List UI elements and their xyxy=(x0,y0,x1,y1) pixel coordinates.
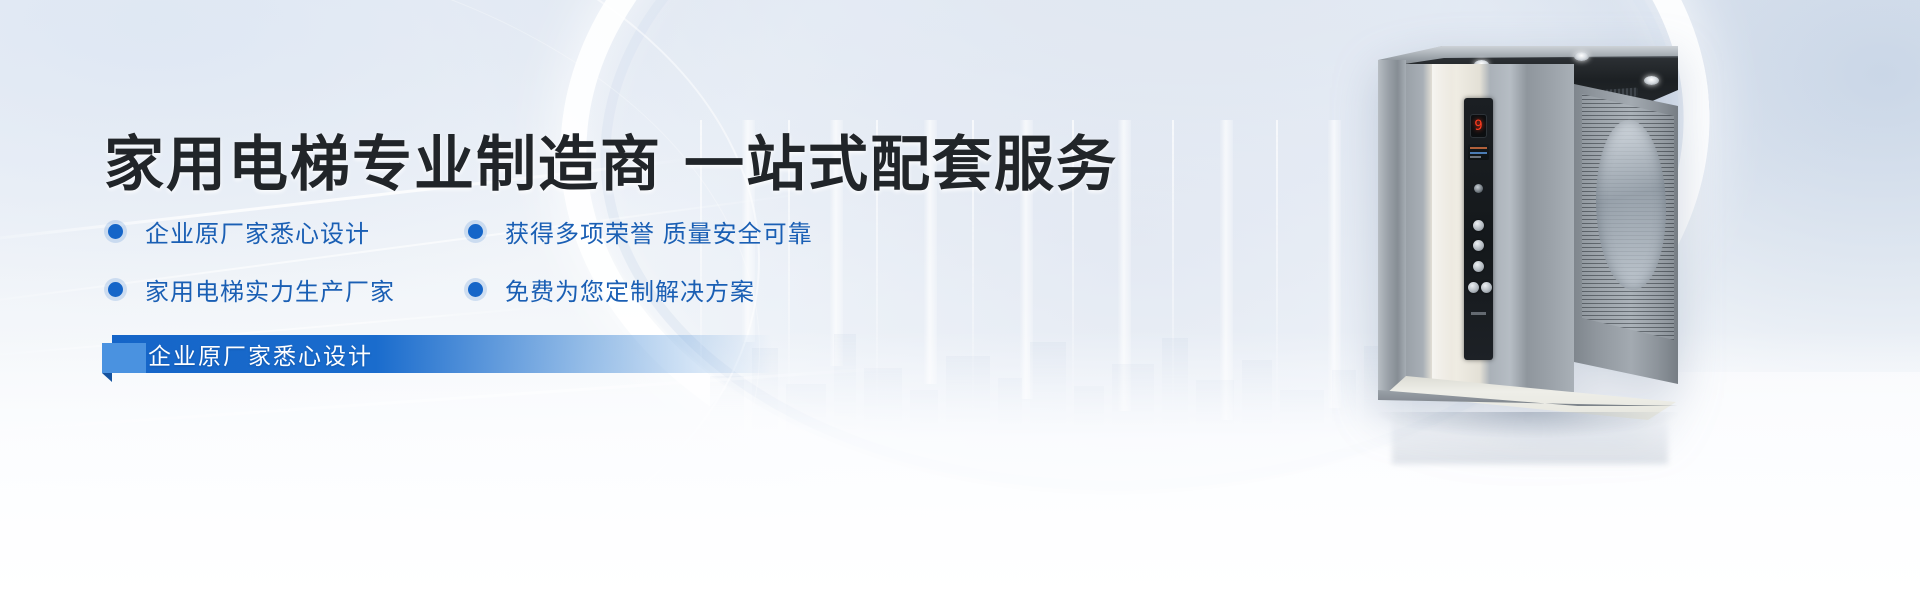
banner-content: 家用电梯专业制造商一站式配套服务 企业原厂家悉心设计 获得多项荣誉 质量安全可靠… xyxy=(0,0,1150,600)
list-item: 企业原厂家悉心设计 xyxy=(108,214,468,249)
headline-part-1: 家用电梯专业制造商 xyxy=(104,131,662,198)
cabin-left-jamb xyxy=(1378,60,1406,392)
headline-part-2: 一站式配套服务 xyxy=(684,131,1118,198)
page-title: 家用电梯专业制造商一站式配套服务 xyxy=(104,116,1118,203)
list-item-label: 获得多项荣誉 质量安全可靠 xyxy=(505,214,813,249)
hero-banner: 家用电梯专业制造商一站式配套服务 企业原厂家悉心设计 获得多项荣誉 质量安全可靠… xyxy=(0,0,1920,600)
panel-logo xyxy=(1471,312,1486,315)
floor-indicator-display: 9 xyxy=(1470,114,1487,138)
ribbon-fold-icon xyxy=(102,343,146,373)
list-item-label: 企业原厂家悉心设计 xyxy=(145,214,370,249)
control-panel[interactable]: 9 xyxy=(1464,98,1493,360)
elevator-cabin-image: 9 xyxy=(1378,46,1678,406)
list-item-label: 家用电梯实力生产厂家 xyxy=(145,272,395,307)
floor-button[interactable] xyxy=(1473,261,1484,272)
bullet-dot-icon xyxy=(108,224,123,239)
list-item-label: 免费为您定制解决方案 xyxy=(505,272,755,307)
list-item: 获得多项荣誉 质量安全可靠 xyxy=(468,214,828,249)
door-close-button[interactable] xyxy=(1481,282,1492,293)
door-open-button[interactable] xyxy=(1468,282,1479,293)
bullet-dot-icon xyxy=(468,282,483,297)
brand-plate xyxy=(1468,144,1489,160)
cabin-shadow xyxy=(1378,412,1678,438)
bullet-dot-icon xyxy=(108,282,123,297)
feature-list: 企业原厂家悉心设计 获得多项荣誉 质量安全可靠 家用电梯实力生产厂家 免费为您定… xyxy=(108,214,968,307)
key-switch-icon[interactable] xyxy=(1474,184,1483,193)
bullet-dot-icon xyxy=(468,224,483,239)
floor-button[interactable] xyxy=(1473,220,1484,231)
panel-highlight xyxy=(1432,64,1452,392)
list-item: 免费为您定制解决方案 xyxy=(468,272,828,307)
highlight-ribbon: 企业原厂家悉心设计 xyxy=(112,335,772,373)
ceiling-spotlight-icon xyxy=(1644,76,1659,85)
floor-button[interactable] xyxy=(1473,240,1484,251)
ceiling-spotlight-icon xyxy=(1574,52,1589,61)
list-item: 家用电梯实力生产厂家 xyxy=(108,272,468,307)
ribbon-label: 企业原厂家悉心设计 xyxy=(148,337,373,371)
